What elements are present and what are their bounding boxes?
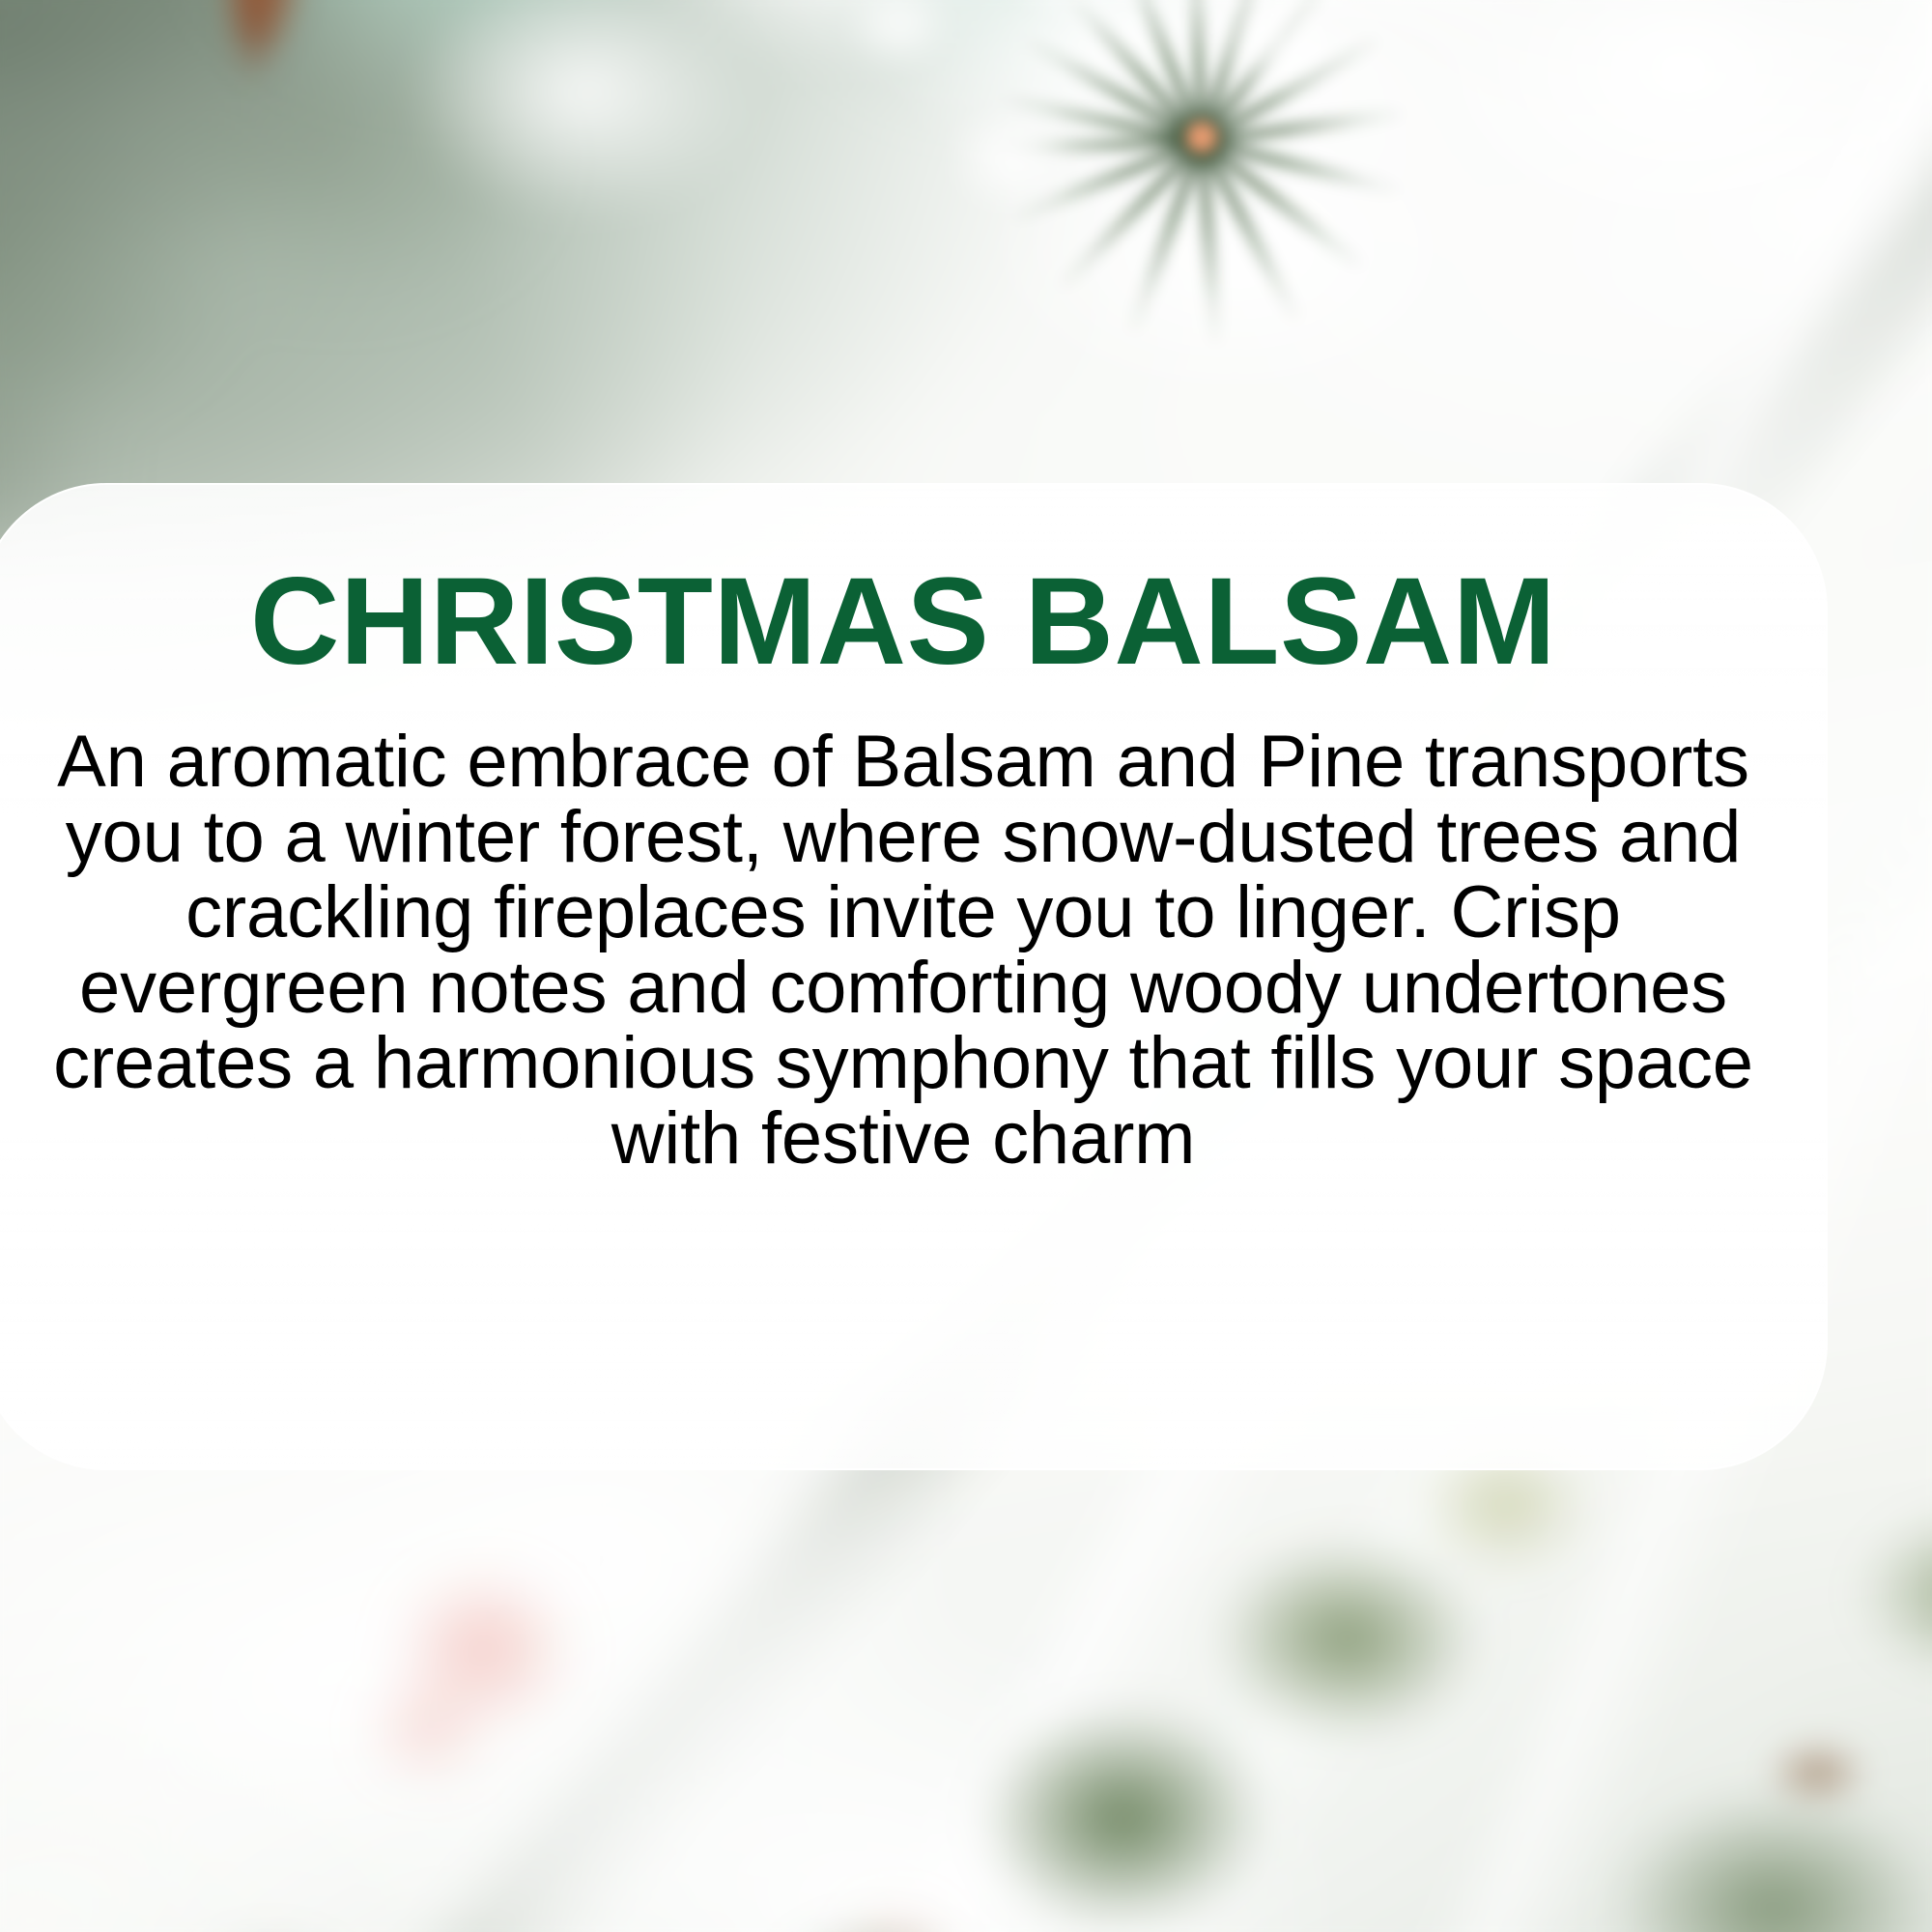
frosted-glass-text-card: CHRISTMAS BALSAM An aromatic embrace of … bbox=[0, 483, 1828, 1470]
scent-description: An aromatic embrace of Balsam and Pine t… bbox=[31, 684, 1776, 1177]
product-scent-card-image: CHRISTMAS BALSAM An aromatic embrace of … bbox=[0, 0, 1932, 1932]
page-title: CHRISTMAS BALSAM bbox=[250, 560, 1556, 684]
